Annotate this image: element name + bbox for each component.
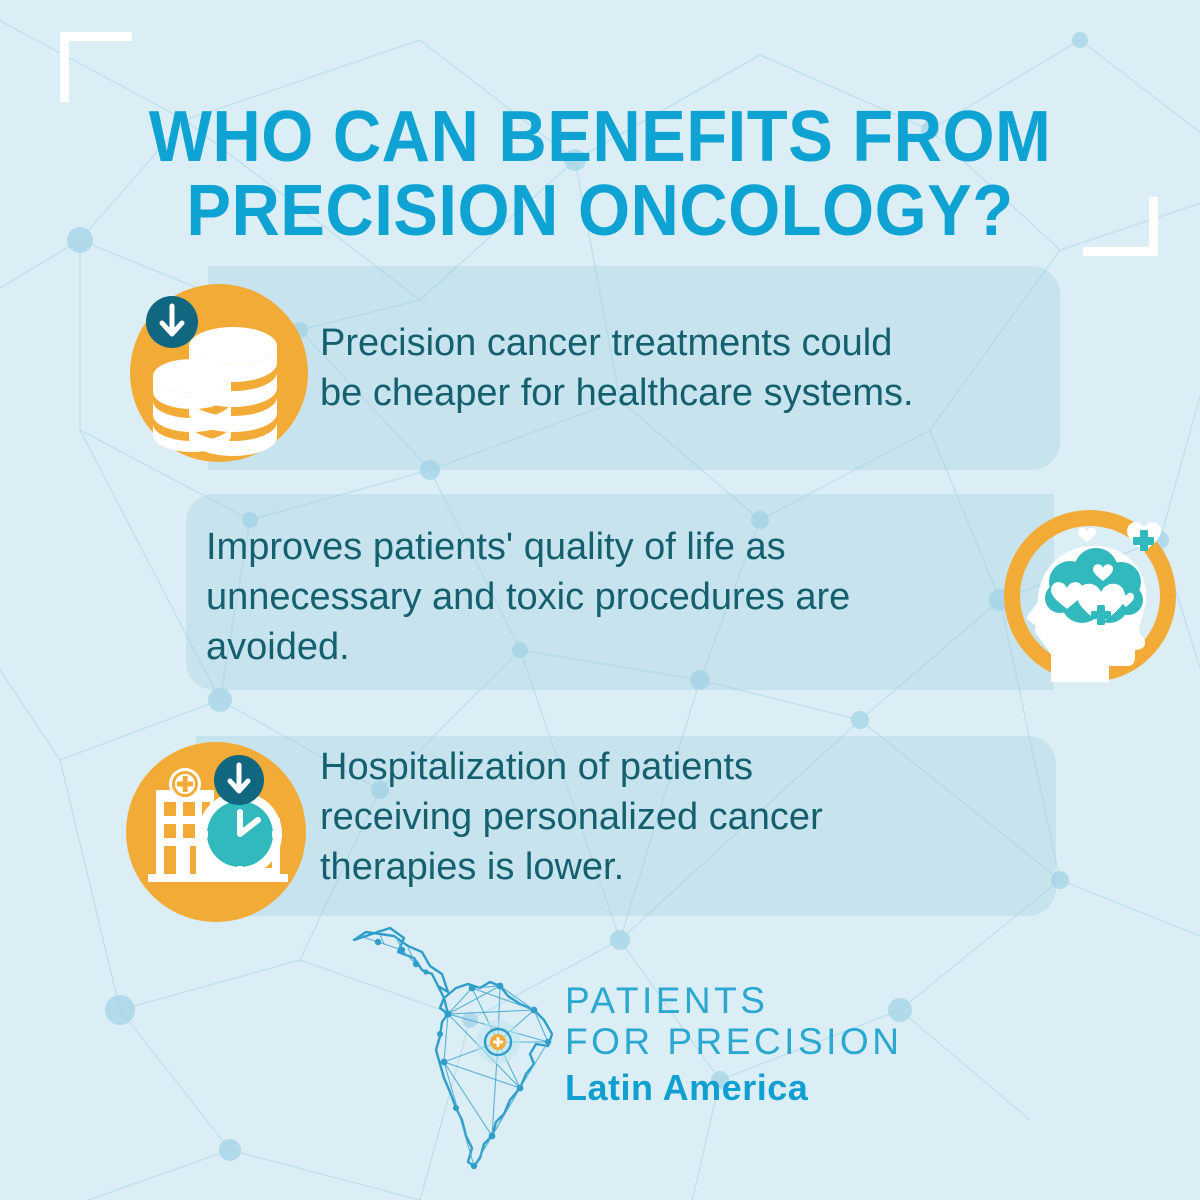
benefit-text-cost: Precision cancer treatments could be che… — [320, 318, 1040, 418]
logo-line-patients: PATIENTS — [565, 980, 985, 1021]
corner-bracket-top-left-icon — [60, 32, 132, 102]
infographic-canvas: WHO CAN BENEFITS FROM PRECISION ONCOLOGY… — [0, 0, 1200, 1200]
logo-line-latin-america: Latin America — [565, 1066, 985, 1110]
benefit-text-quality-of-life: Improves patients' quality of life as un… — [206, 522, 976, 672]
down-arrow-badge-icon — [214, 755, 264, 805]
coins-stack-decreasing-icon — [130, 284, 308, 462]
logo-line-for-precision: FOR PRECISION — [565, 1021, 985, 1062]
page-title: WHO CAN BENEFITS FROM PRECISION ONCOLOGY… — [42, 100, 1158, 248]
latin-america-network-map-icon — [344, 922, 560, 1172]
orange-crosshair-plus-marker-icon — [476, 1020, 520, 1064]
logo-wordmark: PATIENTS FOR PRECISION Latin America — [565, 980, 985, 1110]
head-brain-hearts-icon — [1004, 510, 1176, 682]
hospital-clock-icon — [126, 742, 306, 922]
down-arrow-badge-icon — [146, 296, 198, 348]
benefit-text-hospitalization: Hospitalization of patients receiving pe… — [320, 742, 960, 892]
